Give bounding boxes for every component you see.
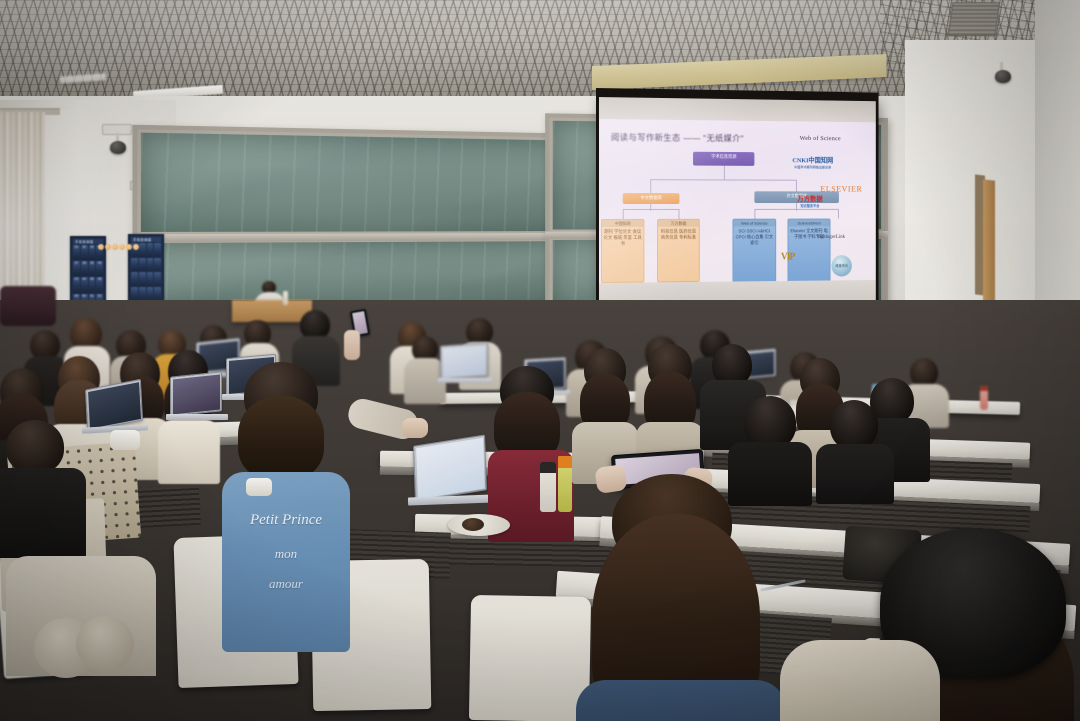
connector-line xyxy=(754,209,755,219)
decorative-flowers xyxy=(98,244,139,250)
pocket-cell[interactable] xyxy=(131,258,138,272)
pocket-row xyxy=(131,272,161,286)
pocket-cell[interactable] xyxy=(139,272,146,286)
pocket-cell[interactable] xyxy=(154,272,161,286)
chair-far-left xyxy=(0,286,56,326)
slide-card: 万方数据 科技信息 医药信息 商务信息 专利标准 xyxy=(657,219,700,283)
pocket-cell[interactable]: 46 xyxy=(96,277,103,292)
student-head xyxy=(830,400,878,450)
hand-holding-phone xyxy=(344,330,360,360)
pocket-cell[interactable] xyxy=(139,258,146,272)
student-torso xyxy=(728,442,812,506)
slide-card-head: Web of Science xyxy=(733,220,775,227)
water-bottle xyxy=(980,386,988,410)
pocket-cell[interactable] xyxy=(154,258,161,272)
pocket-row: 37 38 39 40 xyxy=(73,261,103,276)
laptop-screen xyxy=(173,374,220,414)
water-bottle-white xyxy=(540,462,556,512)
slide-card: Web of Science SCI SSCI A&HCI CPCI 核心合集 … xyxy=(732,219,776,284)
pocket-cell[interactable] xyxy=(139,243,146,257)
cnki-logo-subtext: 中国学术期刊网络出版总库 xyxy=(779,164,846,169)
laptop-base xyxy=(438,378,492,383)
springerlink-logo: SpringerLink xyxy=(818,234,845,240)
slide-card: 中国知网 期刊 学位论文 会议论文 报纸 年鉴 工具书 xyxy=(601,219,644,283)
pocket-cell[interactable] xyxy=(147,287,154,301)
pocket-cell[interactable]: 45 xyxy=(89,277,96,292)
slide-top-band xyxy=(599,97,876,122)
pocket-cell[interactable] xyxy=(131,272,138,286)
cnki-logo: CNKI中国知网 中国学术期刊网络出版总库 xyxy=(779,154,846,169)
wanfang-logo-text: 万方数据 xyxy=(797,196,822,203)
pocket-cell[interactable]: 37 xyxy=(73,261,80,276)
tissue xyxy=(110,430,140,450)
student-hand xyxy=(402,418,428,438)
pocket-cell[interactable]: 39 xyxy=(89,261,96,276)
bottle-cap xyxy=(540,462,556,473)
pocket-cell[interactable]: 43 xyxy=(73,277,80,292)
student-head xyxy=(910,358,938,387)
connector-line xyxy=(650,179,651,193)
slide-branch-node-left: 中文数据库 xyxy=(623,193,680,204)
chair-front-right[interactable] xyxy=(469,595,591,721)
laptop-lid xyxy=(413,434,487,501)
connector-line xyxy=(650,179,796,181)
student-torso-navy xyxy=(576,680,786,721)
student-torso xyxy=(158,420,220,484)
wanfang-logo: 万方数据 知识服务平台 xyxy=(777,193,842,208)
bottle-cap xyxy=(558,456,572,468)
elsevier-logo: ELSEVIER xyxy=(820,184,862,194)
hand-holding-phone-2 xyxy=(594,464,627,494)
jacket-text-line2: mon xyxy=(222,546,350,562)
connector-line xyxy=(724,166,725,180)
jacket-text-line1: Petit Prince xyxy=(222,512,350,529)
water-bottle xyxy=(283,291,288,305)
laptop-lid xyxy=(440,342,488,379)
tea-bottle xyxy=(558,456,572,512)
slide-card-body: 科技信息 医药信息 商务信息 专利标准 xyxy=(661,229,696,240)
pocket-row xyxy=(131,287,161,301)
pocket-cell[interactable] xyxy=(139,287,146,301)
security-camera-icon xyxy=(110,141,126,154)
pocket-cell[interactable] xyxy=(131,287,138,301)
student-head xyxy=(6,420,64,474)
slide-card-body: SCI SSCI A&HCI CPCI 核心合集 引文索引 xyxy=(736,229,773,246)
slide-card-head: ScienceDirect xyxy=(788,220,829,227)
pocket-row xyxy=(131,258,161,272)
tissue-2 xyxy=(246,478,272,496)
wanfang-logo-subtext: 知识服务平台 xyxy=(777,203,842,208)
laptop-base xyxy=(166,414,228,420)
slide-card-head: 中国知网 xyxy=(602,220,643,227)
slide-card-head: 万方数据 xyxy=(658,220,699,227)
pocket-row: 43 44 45 46 xyxy=(73,277,103,292)
pocket-cell[interactable]: 38 xyxy=(81,261,88,276)
pocket-cell[interactable] xyxy=(154,287,161,301)
pocket-cell[interactable]: 40 xyxy=(96,261,103,276)
security-camera-icon-right xyxy=(995,70,1011,83)
web-of-science-logo: Web of Science xyxy=(800,135,841,142)
bottle-cap xyxy=(980,386,988,391)
laptop-screen xyxy=(88,382,141,429)
slide-root-node: 学术信息资源 xyxy=(693,152,754,166)
student-shoulder-cream xyxy=(780,640,940,721)
presentation-slide: 阅读与写作新生态 —— "无纸媒介" 学术信息资源 中文数据库 外文数据库 中国… xyxy=(599,97,876,313)
connector-line xyxy=(623,209,624,219)
student-torso xyxy=(0,468,86,558)
laptop-screen xyxy=(416,437,485,498)
vip-logo: VIP xyxy=(781,252,794,263)
pocket-panel-header: 手机收纳袋 xyxy=(131,237,161,242)
pocket-cell[interactable] xyxy=(147,243,154,257)
blackboard-left xyxy=(132,125,590,319)
seal-logo: 维普资讯 xyxy=(831,255,851,276)
projection-screen: 阅读与写作新生态 —— "无纸媒介" 学术信息资源 中文数据库 外文数据库 中国… xyxy=(596,94,879,316)
chalk-smudges xyxy=(141,133,583,232)
pocket-cell[interactable] xyxy=(147,258,154,272)
slide-title: 阅读与写作新生态 —— "无纸媒介" xyxy=(611,131,744,144)
student-head xyxy=(466,318,493,345)
pocket-cell[interactable]: 44 xyxy=(81,277,88,292)
student-leg-left-2 xyxy=(76,616,134,672)
laptop-screen xyxy=(443,345,486,377)
jacket-text-line3: amour xyxy=(222,576,350,592)
classroom-photo: 手机收纳袋 31 32 33 34 37 38 39 40 43 44 45 4… xyxy=(0,0,1080,721)
student-hair xyxy=(238,396,324,480)
snack-item xyxy=(462,518,484,531)
air-vent-icon xyxy=(948,2,1001,36)
blackboard-left-upper-pane xyxy=(137,129,586,235)
pocket-cell[interactable]: 32 xyxy=(81,245,88,260)
connector-line xyxy=(838,209,839,219)
slide-card-body: 期刊 学位论文 会议论文 报纸 年鉴 工具书 xyxy=(604,229,642,246)
student-torso xyxy=(816,444,894,504)
pocket-cell[interactable]: 33 xyxy=(89,245,96,260)
denim-jacket: Petit Prince mon amour xyxy=(222,472,350,652)
pocket-cell[interactable] xyxy=(147,272,154,286)
laptop-lid xyxy=(170,371,222,416)
pocket-cell[interactable] xyxy=(154,243,161,257)
connector-line xyxy=(679,209,680,219)
pocket-cell[interactable]: 31 xyxy=(73,245,80,260)
